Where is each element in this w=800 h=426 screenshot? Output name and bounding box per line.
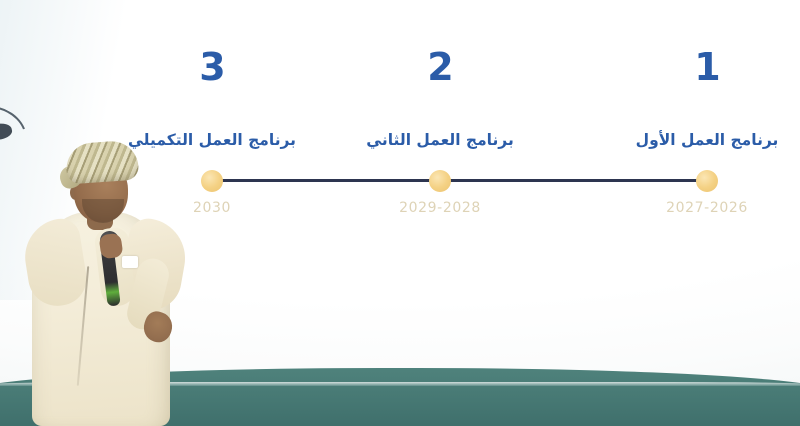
timeline-node-number: 3 [152,48,272,86]
timeline-node-number: 1 [647,48,767,86]
presenter-badge [122,256,138,268]
timeline-node-label: برنامج العمل الأول [597,131,800,150]
timeline-node-dot-icon[interactable] [696,170,718,192]
presenter-mussar-turban [65,140,140,185]
presenter-figure [24,130,184,426]
timeline-node-dot-icon[interactable] [201,170,223,192]
timeline-node-year: 2029-2028 [355,200,525,216]
timeline-node-number: 2 [380,48,500,86]
presentation-screenshot: 3 برنامج العمل التكميلي 2030 2 برنامج ال… [0,0,800,426]
timeline-node-dot-icon[interactable] [429,170,451,192]
timeline-node-year: 2027-2026 [622,200,792,216]
timeline-rail [205,179,710,182]
timeline-node-label: برنامج العمل الثاني [330,131,550,150]
